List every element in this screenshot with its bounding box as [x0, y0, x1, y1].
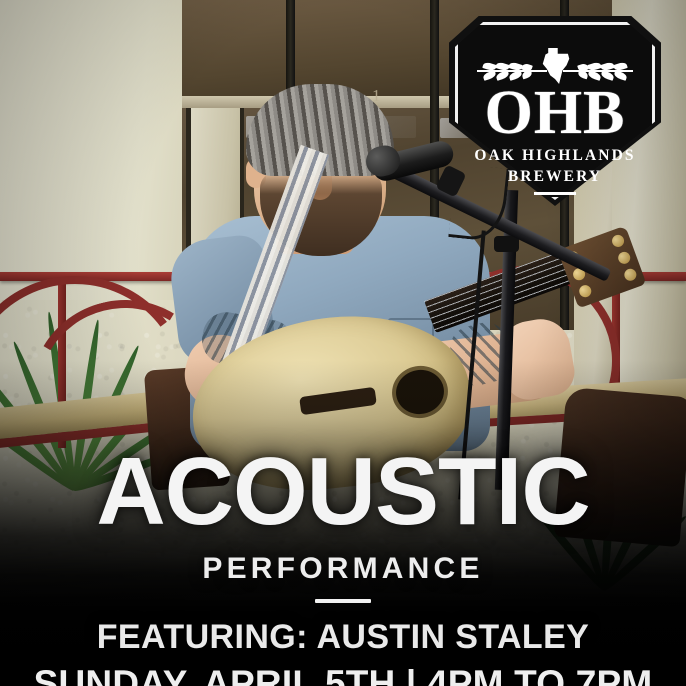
- event-text-block: ACOUSTIC PERFORMANCE FEATURING: AUSTIN S…: [0, 420, 686, 686]
- featuring-line: FEATURING: AUSTIN STALEY: [0, 620, 686, 654]
- logo-name-line1: OAK HIGHLANDS: [455, 148, 655, 164]
- logo-monogram: OHB: [455, 82, 655, 144]
- brewery-logo: OHB OAK HIGHLANDS BREWERY: [455, 22, 655, 200]
- logo-dash-ornament: [534, 192, 576, 195]
- wheat-sprig-icon: [477, 62, 547, 80]
- datetime-line: SUNDAY, APRIL 5TH | 4PM TO 7PM: [0, 665, 686, 686]
- acoustic-performance-flyer: 1: [0, 0, 686, 686]
- headline-subtitle: PERFORMANCE: [0, 554, 686, 584]
- wheat-sprig-icon: [563, 62, 633, 80]
- logo-name-line2: BREWERY: [455, 169, 655, 185]
- divider-rule: [315, 599, 371, 603]
- headline-title: ACOUSTIC: [0, 444, 686, 540]
- mic-stand-adjuster: [494, 236, 519, 252]
